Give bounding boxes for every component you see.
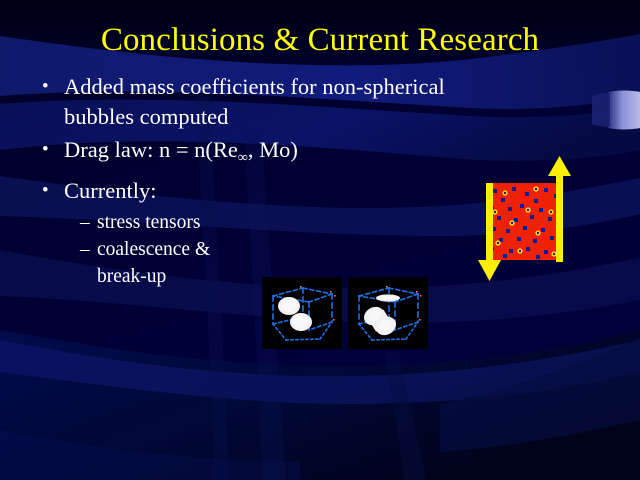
sub-bullet-text: stress tensors — [97, 209, 200, 236]
red-domain — [486, 183, 563, 260]
simulation-image-left — [262, 277, 342, 349]
bullet-marker: • — [42, 135, 64, 165]
bubble-array-with-counterflow-arrows — [468, 150, 592, 293]
sub-bullet-item-1: – stress tensors — [42, 209, 462, 236]
simulation-image-right — [348, 277, 428, 349]
bubble-array-figure — [468, 150, 592, 293]
bullet-marker: • — [42, 176, 64, 206]
bullet-item-3: • Currently: — [42, 176, 462, 206]
drag-law-prefix: Drag law: n = n(Re — [64, 137, 238, 162]
infinity-subscript: ∞ — [238, 150, 248, 165]
bullet-text: Added mass coefficients for non-spherica… — [64, 72, 462, 102]
slide-body: • Added mass coefficients for non-spheri… — [42, 72, 462, 290]
two-bubbles-diagram — [262, 277, 342, 349]
sub-bullet-text: coalescence & — [97, 236, 210, 263]
bullet-item-1: • Added mass coefficients for non-spheri… — [42, 72, 462, 102]
coalesced-bubble-diagram — [348, 277, 428, 349]
bullet-item-2: • Drag law: n = n(Re∞, Mo) — [42, 135, 462, 173]
sub-bullet-item-2: – coalescence & — [42, 236, 462, 263]
drag-law-suffix: , Mo) — [248, 137, 298, 162]
bullet-marker: • — [42, 72, 64, 102]
slide-title: Conclusions & Current Research — [0, 21, 640, 59]
bullet-item-1-continuation: bubbles computed — [42, 102, 462, 132]
presentation-slide: Conclusions & Current Research • Added m… — [0, 0, 640, 480]
sub-bullet-marker: – — [80, 236, 97, 263]
bullet-text: Currently: — [64, 176, 462, 206]
bullet-text: Drag law: n = n(Re∞, Mo) — [64, 135, 462, 173]
sub-bullet-marker: – — [80, 209, 97, 236]
